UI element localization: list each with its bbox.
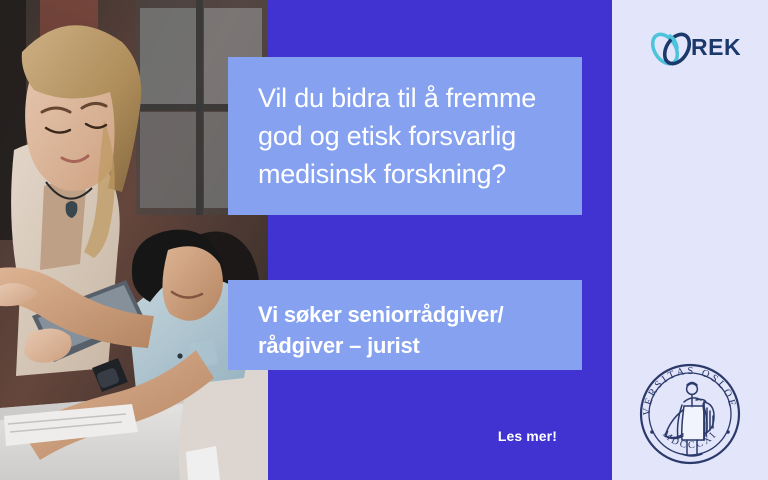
- recruitment-banner: Vil du bidra til å fremme god og etisk f…: [0, 0, 768, 480]
- job-title-line-2: rådgiver – jurist: [258, 330, 556, 361]
- headline-line-3: medisinsk forskning?: [258, 155, 556, 193]
- headline-line-1: Vil du bidra til å fremme: [258, 79, 556, 117]
- interlocking-ellipses-icon: [648, 30, 695, 68]
- rek-logo: REK: [646, 24, 742, 74]
- rek-wordmark: REK: [691, 34, 741, 60]
- headline-line-2: god og etisk forsvarlig: [258, 117, 556, 155]
- read-more-link[interactable]: Les mer!: [228, 428, 582, 444]
- headline-card: Vil du bidra til å fremme god og etisk f…: [228, 57, 582, 215]
- uio-seal: UNIVERSITAS OSLOENSIS MDCCCXI: [634, 358, 746, 470]
- rek-logo-svg: REK: [646, 24, 742, 74]
- uio-seal-svg: UNIVERSITAS OSLOENSIS MDCCCXI: [634, 358, 746, 470]
- job-title-line-1: Vi søker seniorrådgiver/: [258, 299, 556, 330]
- job-title-card: Vi søker seniorrådgiver/ rådgiver – juri…: [228, 280, 582, 370]
